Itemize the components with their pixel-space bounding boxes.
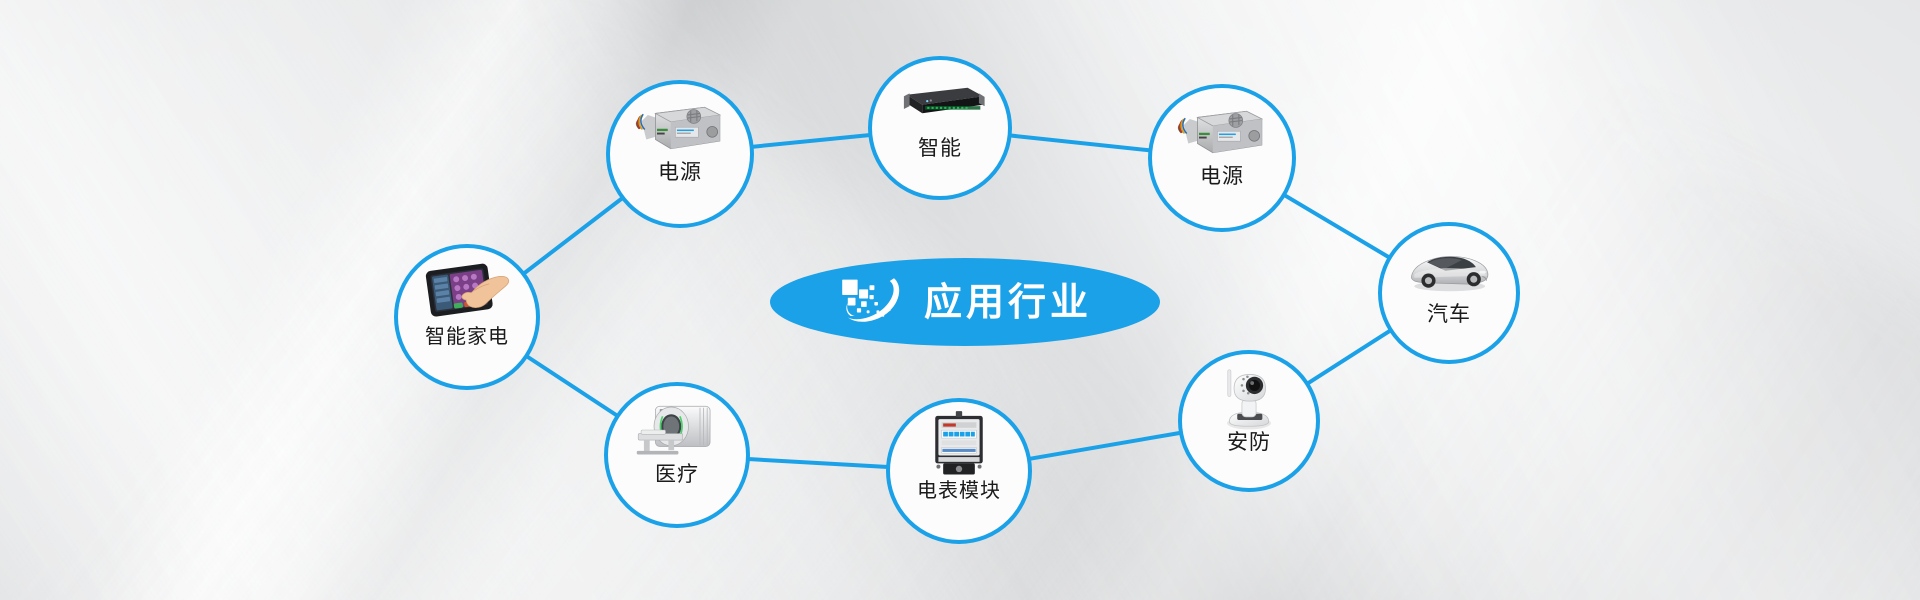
industry-node-label: 医疗 [655,464,699,485]
industry-node-label: 电源 [658,162,702,183]
center-badge: 应用行业 [770,258,1160,346]
industry-node-meter[interactable]: 电表模块 [886,398,1032,544]
tablet-touch-icon [421,260,513,324]
connector-medical-to-smart-home [526,356,617,416]
connector-smart-to-power-right [1010,135,1151,150]
electric-meter-icon [913,414,1005,478]
mri-scanner-icon [631,398,723,462]
industry-node-automotive[interactable]: 汽车 [1378,222,1520,364]
pc-power-supply-icon [1176,100,1268,164]
connector-automotive-to-security [1307,330,1391,384]
orbit-pixel-logo-icon [838,274,908,330]
industry-node-smart[interactable]: 智能 [868,56,1012,200]
industry-node-medical[interactable]: 医疗 [604,382,750,528]
connector-power-right-to-automotive [1284,195,1390,258]
sports-car-icon [1403,238,1495,302]
industry-node-label: 安防 [1227,432,1271,453]
industry-node-label: 电源 [1200,166,1244,187]
rack-server-icon [894,72,986,136]
industry-node-label: 汽车 [1427,304,1471,325]
connector-power-left-to-smart [752,135,871,147]
industry-node-label: 智能家电 [425,326,509,346]
industry-node-label: 智能 [918,138,962,159]
center-badge-text: 应用行业 [924,283,1092,321]
industry-node-power-right[interactable]: 电源 [1148,84,1296,232]
industry-node-smart-home[interactable]: 智能家电 [394,244,540,390]
connector-smart-home-to-power-left [523,198,622,274]
ip-camera-icon [1203,366,1295,430]
connector-security-to-meter [1029,433,1181,459]
industry-node-label: 电表模块 [917,480,1001,500]
industry-node-power-left[interactable]: 电源 [606,80,754,228]
industry-node-security[interactable]: 安防 [1178,350,1320,492]
application-industries-banner: 电源 智能 [0,0,1920,600]
connector-meter-to-medical [748,459,888,467]
pc-power-supply-icon [634,96,726,160]
